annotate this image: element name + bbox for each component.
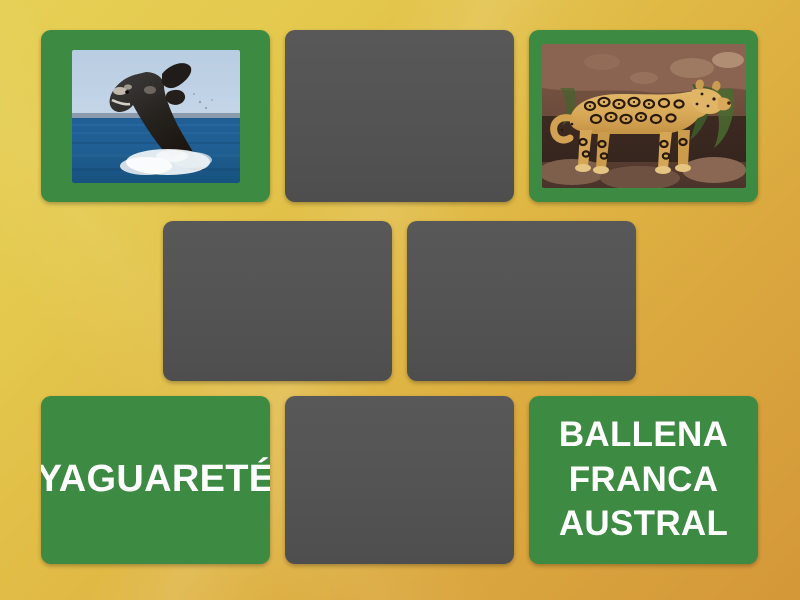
jaguar-photo xyxy=(542,44,746,188)
jaguar-standing-photo xyxy=(542,44,746,188)
southern-right-whale-breaching-photo xyxy=(72,50,240,183)
card-whale-image[interactable] xyxy=(41,30,270,202)
card-label: YAGUARETÉ xyxy=(41,457,270,503)
card-jaguar-image[interactable] xyxy=(529,30,758,202)
card-face-down-4[interactable] xyxy=(285,396,514,564)
card-face-down-1[interactable] xyxy=(285,30,514,202)
card-label: BALLENA FRANCA AUSTRAL xyxy=(551,413,736,547)
matching-pairs-game-board: YAGUARETÉ BALLENA FRANCA AUSTRAL xyxy=(0,0,800,600)
card-text-ballena-franca-austral[interactable]: BALLENA FRANCA AUSTRAL xyxy=(529,396,758,564)
card-text-yaguarete[interactable]: YAGUARETÉ xyxy=(41,396,270,564)
whale-photo xyxy=(72,50,240,183)
card-face-down-2[interactable] xyxy=(163,221,392,381)
card-face-down-3[interactable] xyxy=(407,221,636,381)
